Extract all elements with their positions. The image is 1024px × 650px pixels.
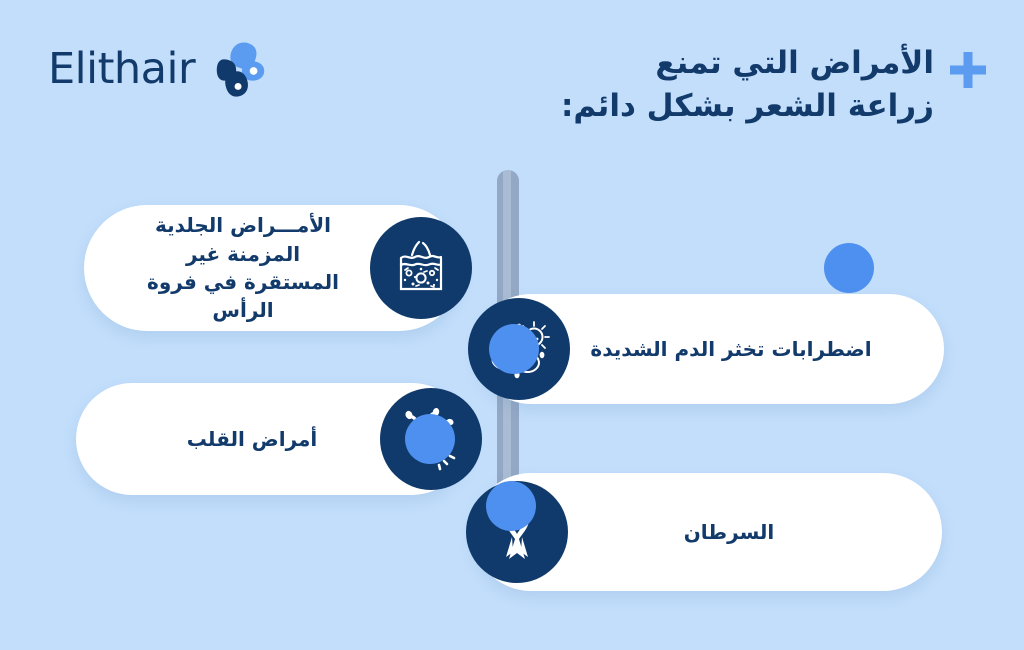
elithair-pinwheel-logo-icon (209, 38, 271, 100)
timeline-dot (405, 414, 455, 464)
brand-name: Elithair (48, 48, 195, 91)
list-item[interactable]: السرطان (472, 473, 942, 591)
infographic-canvas: Elithair الأمراض التي تمنع زراعة الشعر ب… (0, 0, 1024, 650)
timeline-dot (486, 481, 536, 531)
page-title-line-2: زراعة الشعر بشكل دائم: (561, 85, 934, 128)
list-item-label: السرطان (568, 518, 942, 546)
list-item[interactable]: اضطرابات تخثر الدم الشديدة (476, 294, 944, 404)
page-title-line-1: الأمراض التي تمنع (561, 42, 934, 85)
list-item-label: الأمـــراض الجلدية المزمنة غير المستقرة … (84, 211, 370, 325)
page-title: الأمراض التي تمنع زراعة الشعر بشكل دائم: (561, 42, 988, 128)
list-item[interactable]: أمراض القلب (76, 383, 468, 495)
timeline-dot (824, 243, 874, 293)
list-item[interactable]: الأمـــراض الجلدية المزمنة غير المستقرة … (84, 205, 462, 331)
timeline-dot (489, 324, 539, 374)
plus-icon (948, 42, 988, 94)
skin-cross-section-icon (370, 217, 472, 319)
list-item-label: أمراض القلب (76, 425, 380, 453)
list-item-label: اضطرابات تخثر الدم الشديدة (570, 335, 944, 363)
brand-logo[interactable]: Elithair (48, 38, 271, 100)
